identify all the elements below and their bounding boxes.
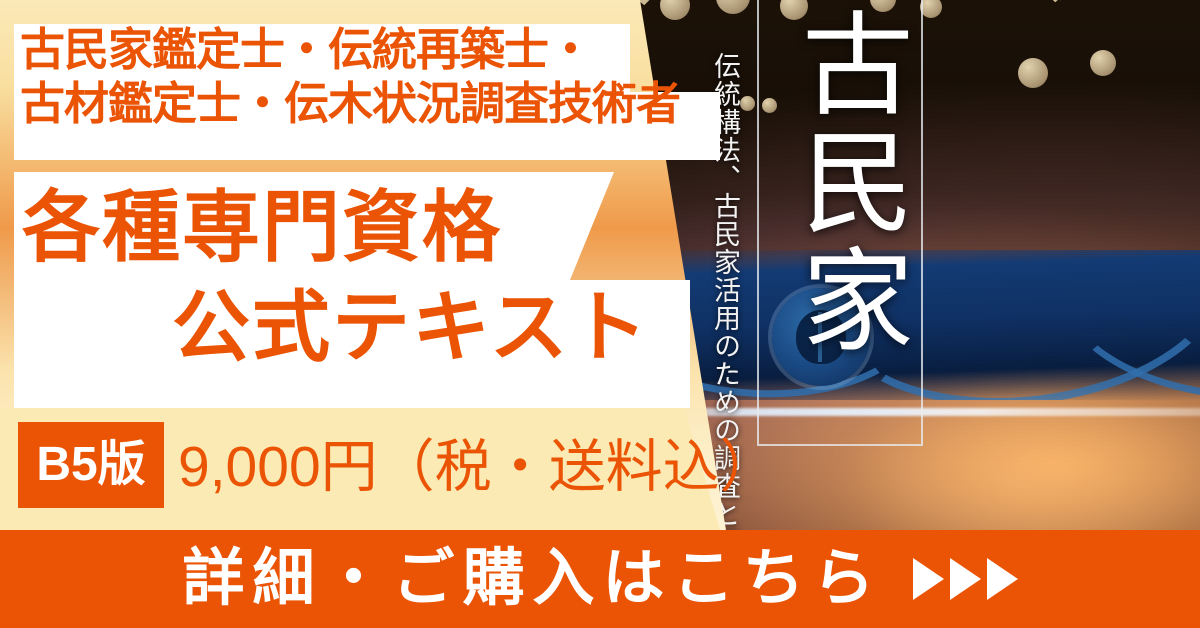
headline-line-1: 古民家鑑定士・伝統再築士・: [20, 22, 720, 78]
triangle-right-icon: [950, 558, 981, 600]
headline-line-2: 古材鑑定士・伝木状況調査技術者: [20, 76, 720, 132]
format-badge: B5版: [18, 422, 164, 508]
headline: 古民家鑑定士・伝統再築士・ 古材鑑定士・伝木状況調査技術者: [20, 22, 720, 133]
format-badge-label: B5版: [36, 441, 145, 489]
book-cover-title: 古民家: [760, 6, 924, 436]
price-text: 9,000円（税・送料込）: [178, 430, 777, 504]
title-line-2: 公式テキスト: [172, 288, 650, 366]
promo-banner[interactable]: 古民家 伝統構法、古民家活用のための調査と再生の 古民家鑑定士・伝統再築士・ 古…: [0, 0, 1200, 628]
cta-bar[interactable]: 詳細・ご購入はこちら: [0, 530, 1200, 628]
cta-arrows: [913, 558, 1018, 600]
triangle-right-icon: [913, 558, 944, 600]
title-line-1: 各種専門資格: [22, 188, 502, 266]
cta-label: 詳細・ご購入はこちら: [182, 548, 882, 610]
triangle-right-icon: [987, 558, 1018, 600]
